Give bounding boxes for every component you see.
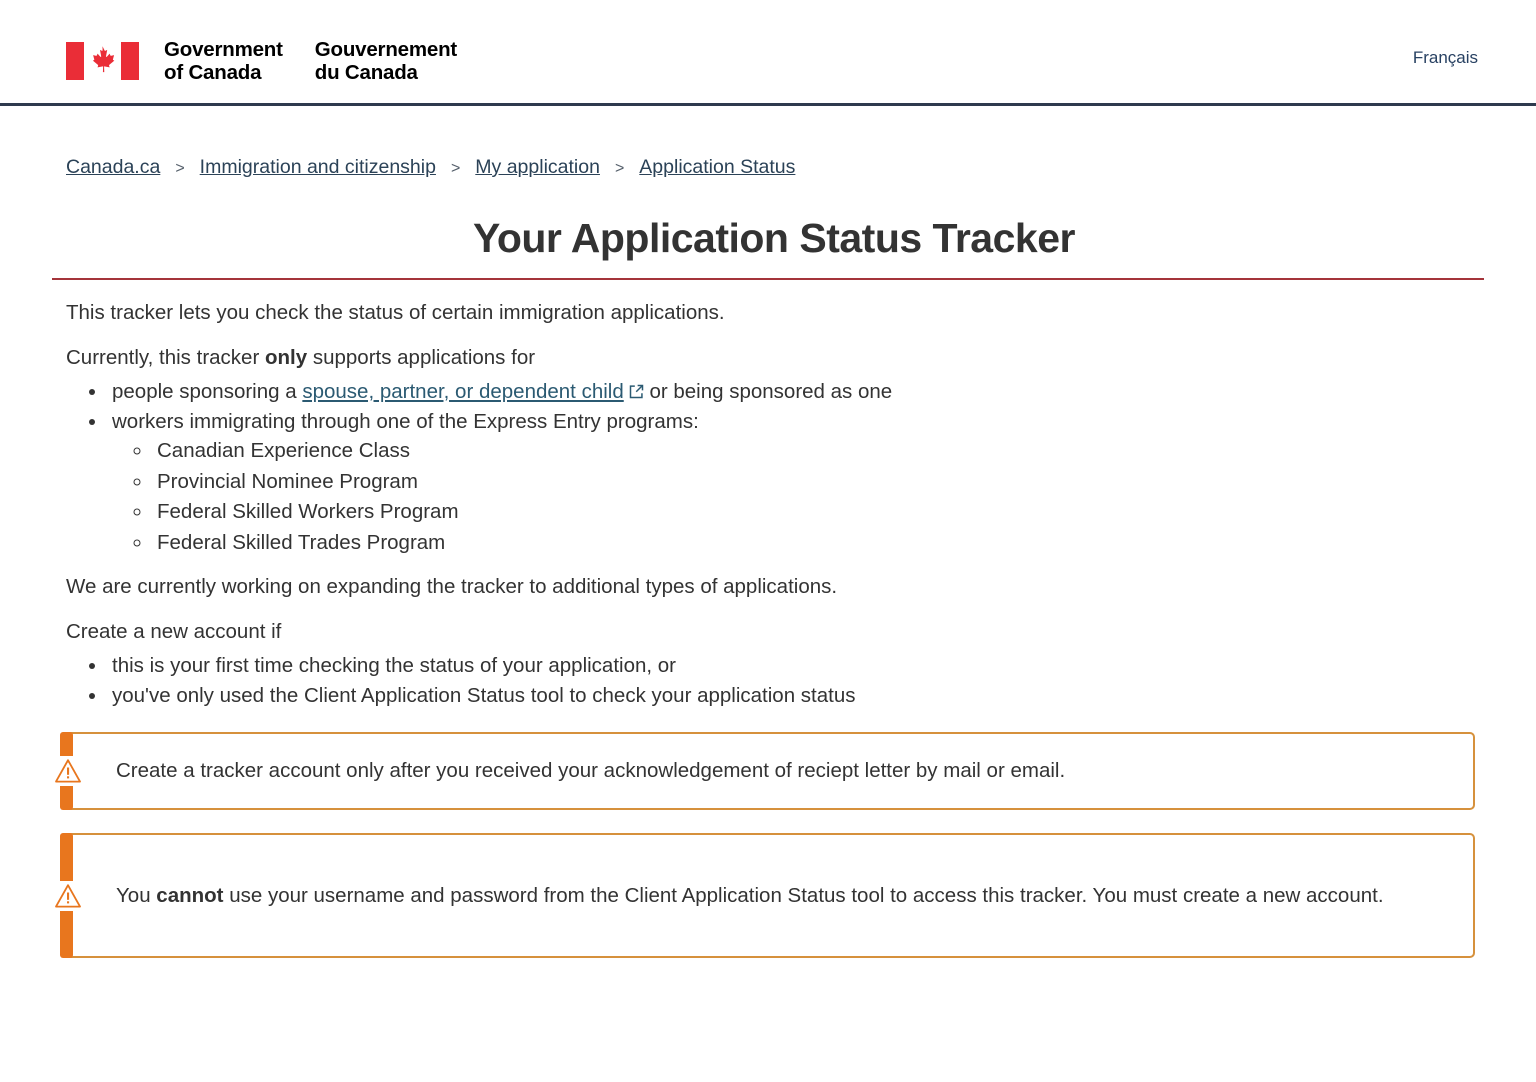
supports-intro-after: supports applications for xyxy=(307,346,535,369)
supported-applications-list: people sponsoring a spouse, partner, or … xyxy=(66,382,1536,553)
spouse-partner-dependent-child-link[interactable]: spouse, partner, or dependent child xyxy=(302,380,623,403)
government-of-canada-brand[interactable]: Government of Canada Gouvernement du Can… xyxy=(66,38,457,84)
wordmark-fr-line1: Gouvernement xyxy=(315,38,457,61)
expanding-note-paragraph: We are currently working on expanding th… xyxy=(66,577,1536,598)
warning-triangle-icon xyxy=(53,881,83,911)
wordmark-french: Gouvernement du Canada xyxy=(315,38,457,84)
list-item: Canadian Experience Class xyxy=(153,441,1536,462)
page-title: Your Application Status Tracker xyxy=(0,215,1536,262)
sponsor-text-after: or being sponsored as one xyxy=(644,380,892,403)
list-item: Provincial Nominee Program xyxy=(153,472,1536,493)
list-item: Federal Skilled Workers Program xyxy=(153,502,1536,523)
warning-triangle-icon xyxy=(53,756,83,786)
breadcrumb-item-canada-ca[interactable]: Canada.ca xyxy=(66,156,160,179)
wordmark-en-line2: of Canada xyxy=(164,61,283,84)
alert-message-bold: cannot xyxy=(156,884,223,907)
express-entry-text: workers immigrating through one of the E… xyxy=(112,410,699,433)
breadcrumb: Canada.ca > Immigration and citizenship … xyxy=(66,156,1536,179)
breadcrumb-item-my-application[interactable]: My application xyxy=(475,156,600,179)
breadcrumb-separator: > xyxy=(436,160,475,178)
intro-paragraph: This tracker lets you check the status o… xyxy=(66,303,1536,324)
supports-intro-paragraph: Currently, this tracker only supports ap… xyxy=(66,348,1536,369)
list-item: this is your first time checking the sta… xyxy=(108,656,1536,677)
wordmark-text: Government of Canada Gouvernement du Can… xyxy=(164,38,457,84)
canada-flag-icon xyxy=(66,42,139,80)
alerts-container: Create a tracker account only after you … xyxy=(0,732,1536,958)
alert-message-after: use your username and password from the … xyxy=(224,884,1384,907)
breadcrumb-item-immigration-and-citizenship[interactable]: Immigration and citizenship xyxy=(200,156,436,179)
warning-alert-credentials: You cannot use your username and passwor… xyxy=(66,833,1475,958)
wordmark-en-line1: Government xyxy=(164,38,283,61)
alert-message-before: You xyxy=(116,884,156,907)
supports-intro-before: Currently, this tracker xyxy=(66,346,265,369)
external-link-icon xyxy=(629,384,644,399)
warning-alert-acknowledgement: Create a tracker account only after you … xyxy=(66,732,1475,810)
list-item: workers immigrating through one of the E… xyxy=(108,412,1536,554)
alert-message: You cannot use your username and passwor… xyxy=(116,878,1384,914)
list-item: you've only used the Client Application … xyxy=(108,686,1536,707)
create-account-conditions-list: this is your first time checking the sta… xyxy=(66,656,1536,706)
breadcrumb-separator: > xyxy=(160,160,199,178)
supports-intro-bold: only xyxy=(265,346,307,369)
list-item: people sponsoring a spouse, partner, or … xyxy=(108,382,1536,403)
title-divider xyxy=(52,278,1484,280)
list-item: Federal Skilled Trades Program xyxy=(153,533,1536,554)
express-entry-programs-list: Canadian Experience Class Provincial Nom… xyxy=(112,441,1536,553)
breadcrumb-separator: > xyxy=(600,160,639,178)
sponsor-text-before: people sponsoring a xyxy=(112,380,302,403)
main-content: This tracker lets you check the status o… xyxy=(0,303,1536,706)
site-header: Government of Canada Gouvernement du Can… xyxy=(0,0,1536,106)
create-account-intro-paragraph: Create a new account if xyxy=(66,622,1536,643)
language-toggle-link[interactable]: Français xyxy=(1413,48,1478,68)
wordmark-english: Government of Canada xyxy=(164,38,283,84)
breadcrumb-item-application-status[interactable]: Application Status xyxy=(639,156,795,179)
alert-message: Create a tracker account only after you … xyxy=(116,753,1065,789)
wordmark-fr-line2: du Canada xyxy=(315,61,457,84)
